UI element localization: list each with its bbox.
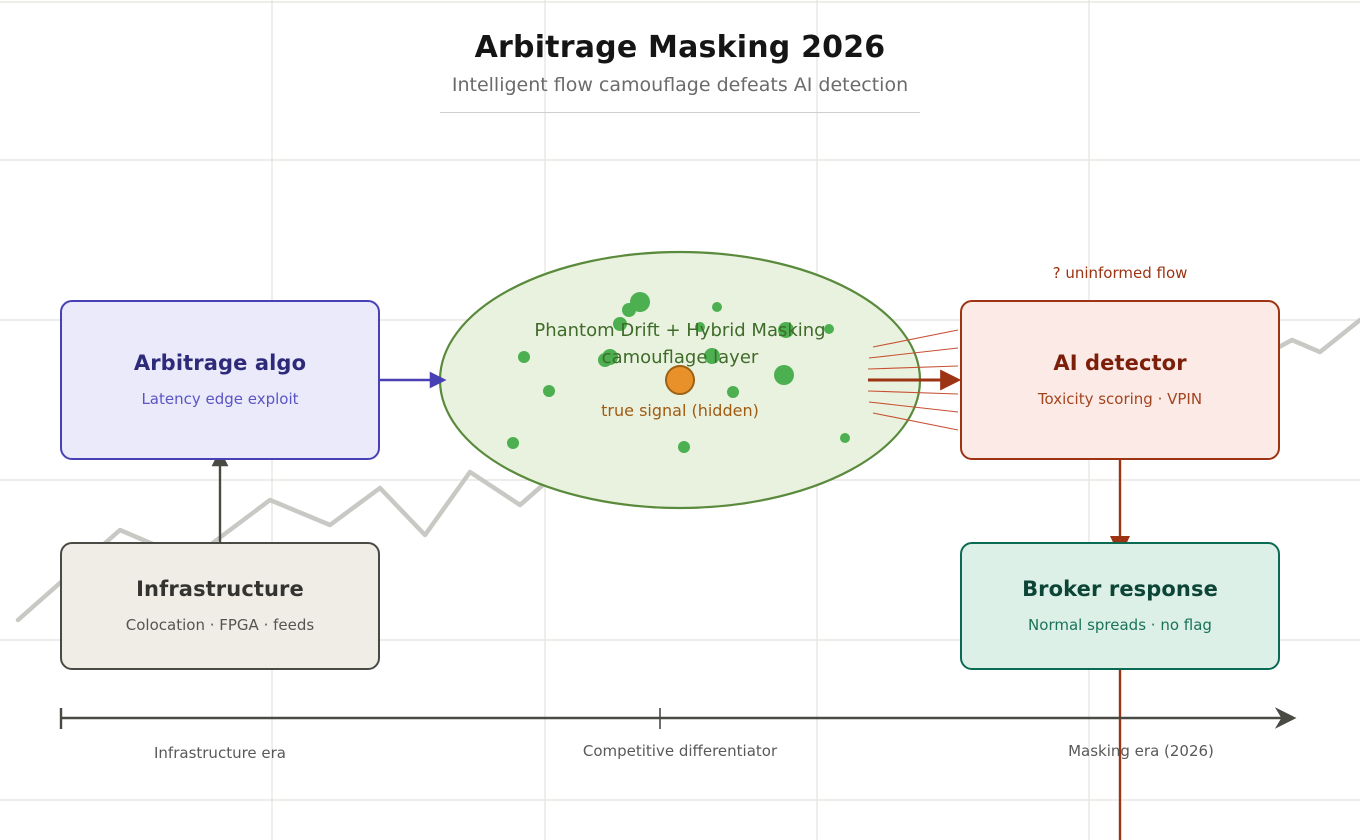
node-broker-response[interactable]: Broker response Normal spreads · no flag: [960, 542, 1280, 670]
camouflage-label-main: Phantom Drift + Hybrid Masking: [440, 320, 920, 341]
node-title: Arbitrage algo: [134, 352, 306, 375]
node-infrastructure[interactable]: Infrastructure Colocation · FPGA · feeds: [60, 542, 380, 670]
header: Arbitrage Masking 2026 Intelligent flow …: [0, 30, 1360, 113]
node-subtitle: Colocation · FPGA · feeds: [126, 617, 314, 634]
page-title: Arbitrage Masking 2026: [0, 30, 1360, 65]
timeline-era-label: Masking era (2026): [981, 742, 1301, 760]
node-arbitrage-algo[interactable]: Arbitrage algo Latency edge exploit: [60, 300, 380, 460]
node-title: Infrastructure: [136, 578, 304, 601]
node-title: Broker response: [1022, 578, 1218, 601]
true-signal-label: true signal (hidden): [440, 401, 920, 420]
node-ai-detector[interactable]: AI detector Toxicity scoring · VPIN: [960, 300, 1280, 460]
node-subtitle: Normal spreads · no flag: [1028, 617, 1212, 634]
uninformed-flow-label: ? uninformed flow: [960, 264, 1280, 282]
node-title: AI detector: [1053, 352, 1186, 375]
diagram-canvas: Arbitrage Masking 2026 Intelligent flow …: [0, 0, 1360, 840]
timeline-era-label: Competitive differentiator: [520, 742, 840, 760]
node-subtitle: Toxicity scoring · VPIN: [1038, 391, 1202, 408]
camouflage-label-sub: camouflage layer: [440, 347, 920, 368]
timeline-era-label: Infrastructure era: [60, 744, 380, 762]
page-subtitle: Intelligent flow camouflage defeats AI d…: [0, 74, 1360, 96]
node-subtitle: Latency edge exploit: [141, 391, 298, 408]
title-divider: [440, 112, 920, 113]
